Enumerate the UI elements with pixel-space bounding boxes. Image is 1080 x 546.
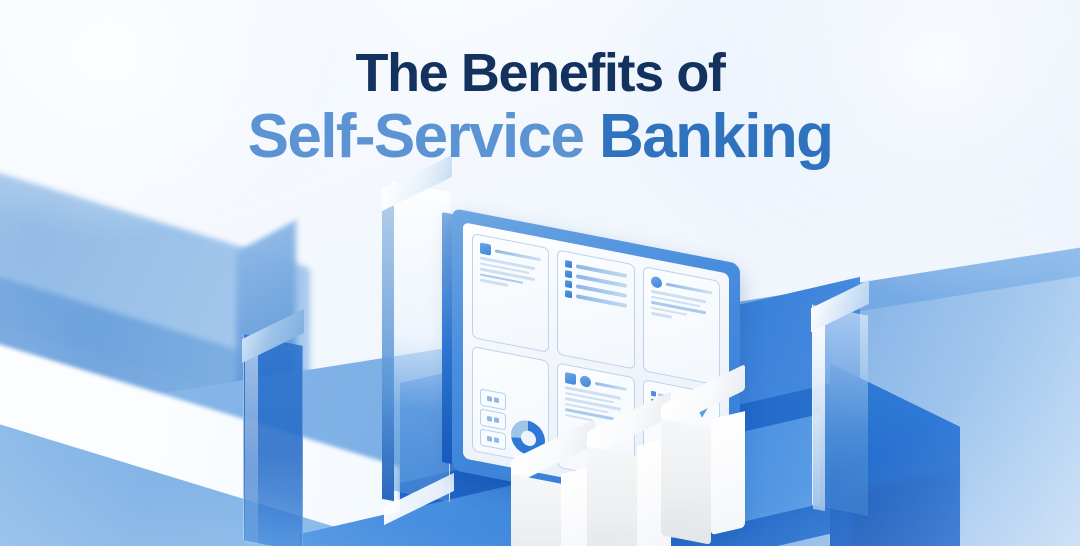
headline: The Benefits of Self-Service Banking bbox=[0, 46, 1080, 168]
widget-tile[interactable] bbox=[480, 428, 506, 450]
white-box-3 bbox=[661, 405, 745, 535]
headline-line-2-part-1: Self-Service bbox=[248, 102, 584, 171]
widget-tile[interactable] bbox=[480, 388, 506, 410]
box-front bbox=[511, 474, 561, 546]
text-line bbox=[651, 312, 672, 319]
analytics-body bbox=[480, 356, 541, 457]
user-card-icon bbox=[480, 242, 491, 255]
glass-block-left bbox=[243, 340, 303, 546]
box-front bbox=[661, 419, 711, 545]
white-box-2 bbox=[587, 432, 671, 546]
headline-line-2-part-2: Banking bbox=[599, 102, 832, 171]
card-title-bar bbox=[495, 249, 541, 261]
glass-block-right bbox=[812, 310, 868, 510]
check-box bbox=[565, 260, 572, 268]
widget-tile[interactable] bbox=[480, 408, 506, 430]
glass-left-sheen bbox=[245, 345, 258, 546]
headline-line-1: The Benefits of bbox=[0, 46, 1080, 100]
checklist-icon bbox=[565, 260, 626, 309]
glass-panel-edge bbox=[382, 189, 394, 501]
box-side bbox=[711, 411, 745, 535]
card-title-bar bbox=[666, 283, 712, 295]
glass-right-sheen bbox=[813, 313, 825, 511]
card-transaction-list[interactable] bbox=[557, 249, 634, 369]
box-front bbox=[587, 446, 637, 546]
card-title-bar bbox=[595, 382, 626, 391]
avatar-icon bbox=[565, 372, 576, 385]
badge-icon bbox=[580, 375, 591, 388]
document-icon bbox=[651, 276, 662, 289]
widget-tiles bbox=[480, 388, 506, 450]
check-box bbox=[565, 290, 572, 298]
card-account-summary[interactable] bbox=[472, 233, 549, 353]
white-box-1 bbox=[511, 460, 595, 546]
hero-banner: The Benefits of Self-Service Banking bbox=[0, 0, 1080, 546]
check-box bbox=[565, 280, 572, 288]
headline-line-2: Self-Service Banking bbox=[0, 106, 1080, 168]
card-statement-detail[interactable] bbox=[643, 266, 720, 386]
check-box bbox=[565, 270, 572, 278]
